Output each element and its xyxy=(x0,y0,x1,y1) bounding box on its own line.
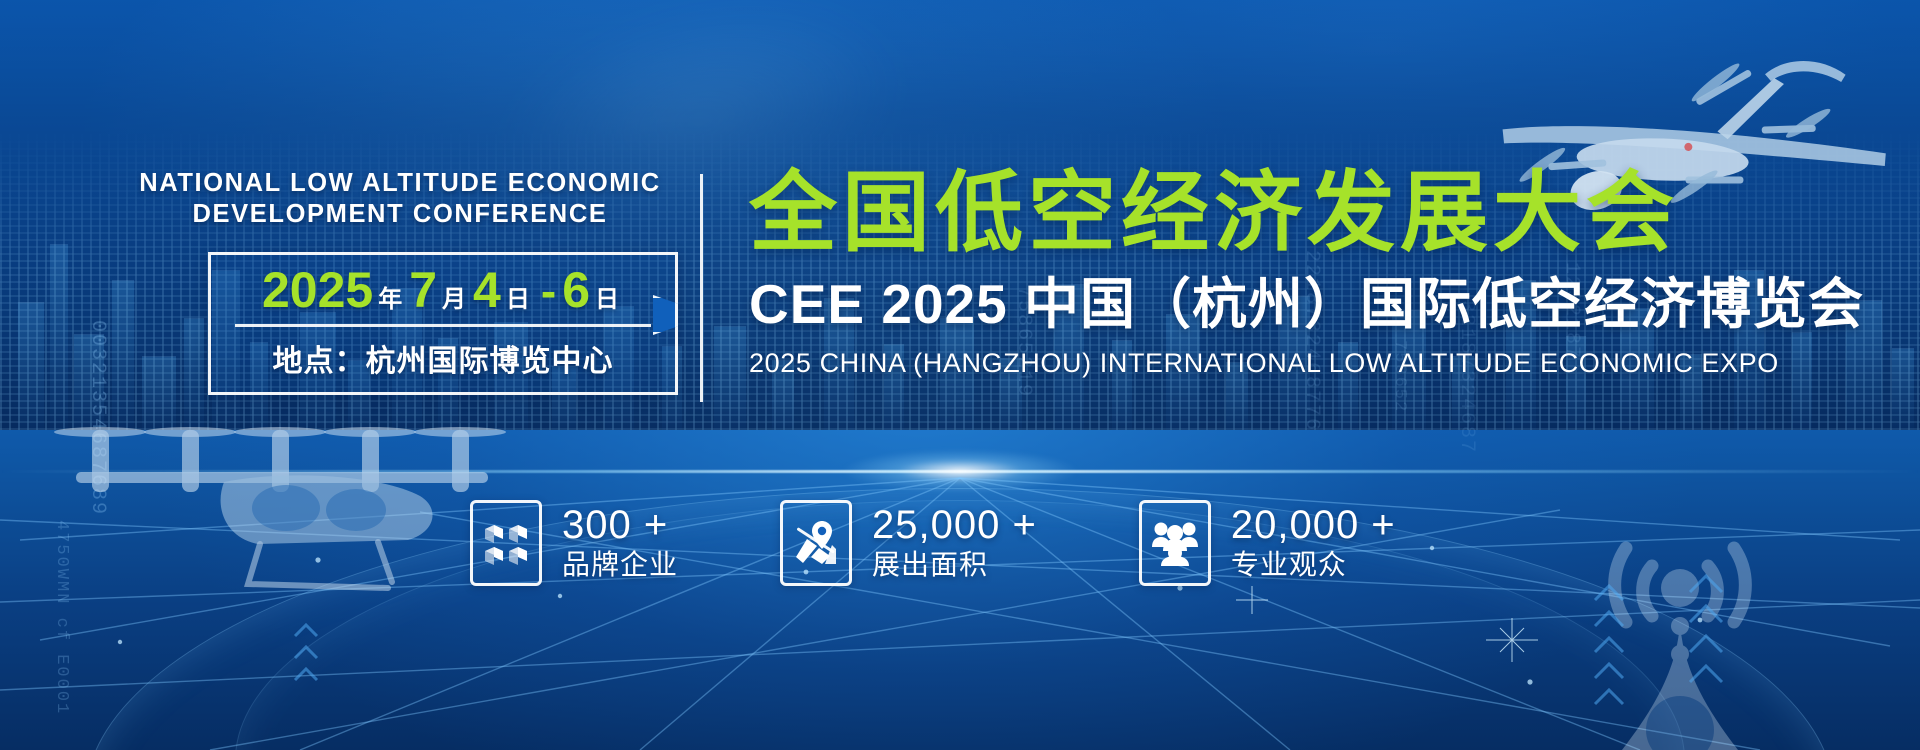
subtitle-en: 2025 CHINA (HANGZHOU) INTERNATIONAL LOW … xyxy=(749,347,1864,379)
date-day-start: 4 xyxy=(473,265,501,315)
stat-exhibition-area: 25,000 + 展出面积 xyxy=(780,500,1037,586)
stat-professional-visitors: 20,000 + 专业观众 xyxy=(1139,500,1396,586)
date-year-unit: 年 xyxy=(378,288,402,312)
stat-label: 品牌企业 xyxy=(562,547,678,582)
conference-eyebrow: NATIONAL LOW ALTITUDE ECONOMIC DEVELOPME… xyxy=(120,168,680,230)
stat-text-group: 25,000 + 展出面积 xyxy=(872,504,1037,582)
stat-value: 20,000 + xyxy=(1231,504,1396,547)
eyebrow-line-2: DEVELOPMENT CONFERENCE xyxy=(120,199,680,230)
date-day-start-unit: 日 xyxy=(506,288,530,312)
event-banner: 00321354687689 4750WMN cf E0001 75865219… xyxy=(0,0,1920,750)
date-year: 2025 xyxy=(262,265,373,315)
stat-text-group: 300 + 品牌企业 xyxy=(562,504,678,582)
headline-row: NATIONAL LOW ALTITUDE ECONOMIC DEVELOPME… xyxy=(0,168,1920,428)
main-title-cn: 全国低空经济发展大会 xyxy=(749,168,1864,258)
stat-label: 展出面积 xyxy=(872,547,1037,582)
map-pin-icon xyxy=(780,500,852,586)
date-range-dash: - xyxy=(541,268,556,314)
event-date-line: 2025 年 7 月 4 日 - 6 日 xyxy=(211,265,675,315)
right-title-column: 全国低空经济发展大会 CEE 2025 中国（杭州）国际低空经济博览会 2025… xyxy=(703,168,1864,380)
subtitle-cn: CEE 2025 中国（杭州）国际低空经济博览会 xyxy=(749,274,1864,336)
stat-value: 25,000 + xyxy=(872,504,1037,547)
date-day-end: 6 xyxy=(562,265,590,315)
date-month-unit: 月 xyxy=(442,288,466,312)
date-month: 7 xyxy=(409,265,437,315)
card-divider-rule xyxy=(235,324,651,327)
left-info-column: NATIONAL LOW ALTITUDE ECONOMIC DEVELOPME… xyxy=(0,168,700,395)
date-venue-card: 2025 年 7 月 4 日 - 6 日 地点：杭州国际博览中心 xyxy=(208,252,678,395)
cubes-icon xyxy=(470,500,542,586)
banner-content: NATIONAL LOW ALTITUDE ECONOMIC DEVELOPME… xyxy=(0,0,1920,750)
venue-text: 地点：杭州国际博览中心 xyxy=(211,336,675,380)
stats-row: 300 + 品牌企业 xyxy=(470,500,1396,586)
eyebrow-line-1: NATIONAL LOW ALTITUDE ECONOMIC xyxy=(120,168,680,199)
stat-brand-companies: 300 + 品牌企业 xyxy=(470,500,678,586)
date-day-end-unit: 日 xyxy=(595,288,619,312)
people-icon xyxy=(1139,500,1211,586)
stat-label: 专业观众 xyxy=(1231,547,1396,582)
stat-value: 300 + xyxy=(562,504,678,547)
stat-text-group: 20,000 + 专业观众 xyxy=(1231,504,1396,582)
